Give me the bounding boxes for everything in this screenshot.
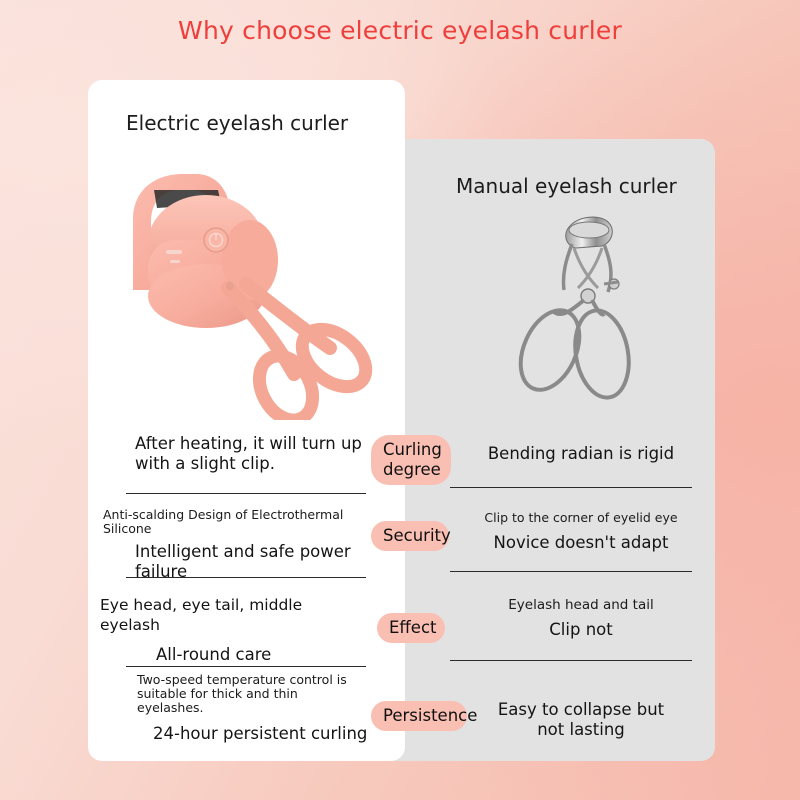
row-2-right-divider bbox=[450, 660, 692, 661]
row-3-left-main: 24-hour persistent curling bbox=[137, 715, 399, 744]
row-1-left-divider bbox=[126, 577, 366, 578]
infographic-root: Why choose electric eyelash curler Elect… bbox=[0, 0, 800, 800]
row-0-right-main: Bending radian is rigid bbox=[450, 444, 712, 464]
row-2-left-cell: Eye head, eye tail, middle eyelash All-r… bbox=[100, 595, 362, 665]
row-2-left-main: All-round care bbox=[100, 635, 362, 665]
row-2-right-sub: Eyelash head and tail bbox=[450, 598, 712, 612]
row-2-left-sub: Eye head, eye tail, middle eyelash bbox=[100, 595, 362, 635]
row-3-left-cell: Two-speed temperature control is suitabl… bbox=[137, 673, 399, 744]
row-2-label: Effect bbox=[377, 613, 445, 643]
row-3-right-cell: Easy to collapse but not lasting bbox=[450, 700, 712, 740]
row-0-right-divider bbox=[450, 487, 692, 488]
manual-column-heading: Manual eyelash curler bbox=[456, 174, 677, 198]
row-1-right-cell: Clip to the corner of eyelid eye Novice … bbox=[450, 511, 712, 553]
row-3-right-main: Easy to collapse but not lasting bbox=[450, 700, 712, 740]
row-1-right-main: Novice doesn't adapt bbox=[450, 525, 712, 553]
row-0-label: Curling degree bbox=[371, 435, 451, 485]
row-1-right-sub: Clip to the corner of eyelid eye bbox=[450, 511, 712, 525]
row-0-right-cell: Bending radian is rigid bbox=[450, 444, 712, 464]
row-2-right-cell: Eyelash head and tail Clip not bbox=[450, 598, 712, 640]
row-3-left-sub: Two-speed temperature control is suitabl… bbox=[137, 673, 399, 715]
row-0-left-divider bbox=[126, 493, 366, 494]
row-0-left-main: After heating, it will turn up with a sl… bbox=[103, 434, 365, 474]
row-2-right-main: Clip not bbox=[450, 612, 712, 640]
row-1-right-divider bbox=[450, 571, 692, 572]
row-1-label: Security bbox=[371, 521, 449, 551]
electric-column-heading: Electric eyelash curler bbox=[126, 111, 348, 135]
row-1-left-main: Intelligent and safe power failure bbox=[103, 536, 365, 582]
page-title: Why choose electric eyelash curler bbox=[0, 16, 800, 45]
manual-eyelash-curler-image bbox=[492, 208, 672, 410]
electric-eyelash-curler-image bbox=[118, 168, 376, 420]
row-1-left-sub: Anti-scalding Design of Electrothermal S… bbox=[103, 508, 365, 536]
row-0-left-cell: After heating, it will turn up with a sl… bbox=[103, 434, 365, 474]
row-1-left-cell: Anti-scalding Design of Electrothermal S… bbox=[103, 508, 365, 582]
row-2-left-divider bbox=[126, 666, 366, 667]
